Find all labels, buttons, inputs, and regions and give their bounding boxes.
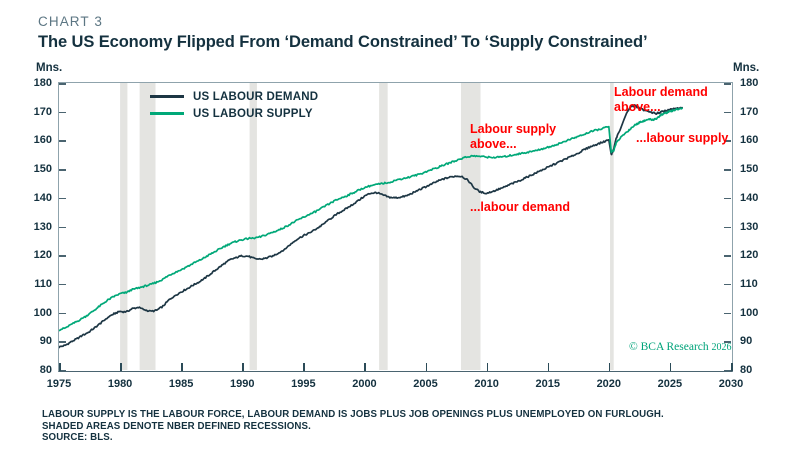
x-tick-label: 2030 <box>709 378 753 390</box>
chart-container: CHART 3 The US Economy Flipped From ‘Dem… <box>0 0 799 452</box>
x-tick-mark <box>487 363 489 371</box>
y-tick-label-right: 80 <box>740 364 770 376</box>
x-tick-mark <box>242 363 244 371</box>
y-tick-mark-right <box>724 313 731 315</box>
legend: US LABOUR DEMAND US LABOUR SUPPLY <box>150 88 318 122</box>
x-tick-mark <box>181 363 183 371</box>
legend-label-demand: US LABOUR DEMAND <box>193 91 318 103</box>
copyright-brand: BCA Research <box>641 341 709 353</box>
legend-label-supply: US LABOUR SUPPLY <box>193 108 313 120</box>
y-axis-unit-left: Mns. <box>36 62 62 74</box>
y-tick-mark-right <box>724 198 731 200</box>
y-tick-mark-left <box>59 313 66 315</box>
annotation-labour-demand-lower: ...labour demand <box>470 200 570 215</box>
x-tick-mark <box>120 363 122 371</box>
chart-number: CHART 3 <box>38 14 103 29</box>
y-tick-mark-right <box>724 169 731 171</box>
x-tick-mark <box>609 363 611 371</box>
x-tick-label: 1985 <box>159 378 203 390</box>
x-tick-label: 2000 <box>342 378 386 390</box>
y-tick-label-left: 120 <box>22 249 52 261</box>
y-tick-label-left: 90 <box>22 335 52 347</box>
x-tick-mark <box>670 363 672 371</box>
y-tick-mark-right <box>724 255 731 257</box>
x-tick-label: 2010 <box>465 378 509 390</box>
x-tick-label: 1990 <box>220 378 264 390</box>
y-tick-mark-right <box>724 112 731 114</box>
y-tick-label-right: 180 <box>740 77 770 89</box>
y-tick-label-left: 80 <box>22 364 52 376</box>
copyright-watermark: © BCA Research 2026 <box>629 341 732 353</box>
y-tick-label-right: 150 <box>740 163 770 175</box>
recession-band <box>610 83 614 370</box>
y-tick-mark-left <box>59 83 66 85</box>
y-tick-label-left: 180 <box>22 77 52 89</box>
copyright-year: 2026 <box>712 342 732 353</box>
page-title: The US Economy Flipped From ‘Demand Cons… <box>38 33 647 52</box>
x-tick-label: 2025 <box>648 378 692 390</box>
y-tick-mark-left <box>59 169 66 171</box>
annotation-labour-supply-lower: ...labour supply <box>636 131 728 146</box>
footnote-line-3: SOURCE: BLS. <box>42 432 664 444</box>
x-tick-mark <box>59 363 61 371</box>
annotation-labour-supply-above: Labour supply above... <box>470 122 556 151</box>
y-tick-mark-left <box>59 284 66 286</box>
x-tick-mark <box>548 363 550 371</box>
y-tick-label-right: 160 <box>740 134 770 146</box>
x-tick-mark <box>364 363 366 371</box>
footnote-line-2: SHADED AREAS DENOTE NBER DEFINED RECESSI… <box>42 421 664 433</box>
footnote-line-1: LABOUR SUPPLY IS THE LABOUR FORCE, LABOU… <box>42 409 664 421</box>
x-tick-label: 2015 <box>526 378 570 390</box>
plot-area <box>58 82 733 372</box>
y-tick-mark-right <box>724 83 731 85</box>
copyright-symbol: © <box>629 341 638 353</box>
y-tick-mark-left <box>59 198 66 200</box>
recession-band <box>379 83 388 370</box>
recession-band <box>120 83 127 370</box>
y-tick-mark-left <box>59 140 66 142</box>
y-tick-label-right: 100 <box>740 307 770 319</box>
footnote: LABOUR SUPPLY IS THE LABOUR FORCE, LABOU… <box>42 409 664 444</box>
x-tick-mark <box>731 363 733 371</box>
y-axis-unit-right: Mns. <box>733 62 759 74</box>
x-tick-label: 1975 <box>37 378 81 390</box>
annotation-labour-demand-above: Labour demand above... <box>614 85 708 114</box>
y-tick-mark-left <box>59 341 66 343</box>
x-tick-label: 1980 <box>98 378 142 390</box>
legend-item-supply: US LABOUR SUPPLY <box>150 105 318 122</box>
y-tick-label-left: 140 <box>22 192 52 204</box>
y-tick-label-right: 90 <box>740 335 770 347</box>
y-tick-mark-left <box>59 227 66 229</box>
x-tick-mark <box>426 363 428 371</box>
y-tick-label-left: 160 <box>22 134 52 146</box>
y-tick-label-left: 130 <box>22 221 52 233</box>
x-tick-label: 2005 <box>404 378 448 390</box>
y-tick-label-right: 120 <box>740 249 770 261</box>
y-tick-mark-right <box>724 370 731 372</box>
y-tick-label-right: 140 <box>740 192 770 204</box>
y-tick-mark-left <box>59 255 66 257</box>
y-tick-mark-left <box>59 112 66 114</box>
plot-svg <box>59 83 731 370</box>
x-tick-label: 1995 <box>281 378 325 390</box>
legend-swatch-supply <box>150 112 184 114</box>
y-tick-label-right: 110 <box>740 278 770 290</box>
y-tick-mark-right <box>724 227 731 229</box>
y-tick-label-left: 110 <box>22 278 52 290</box>
y-tick-mark-right <box>724 284 731 286</box>
recession-band <box>140 83 156 370</box>
y-tick-label-left: 150 <box>22 163 52 175</box>
y-tick-label-right: 170 <box>740 106 770 118</box>
y-tick-label-left: 170 <box>22 106 52 118</box>
recession-band <box>250 83 257 370</box>
y-tick-label-right: 130 <box>740 221 770 233</box>
legend-item-demand: US LABOUR DEMAND <box>150 88 318 105</box>
x-tick-label: 2020 <box>587 378 631 390</box>
x-tick-mark <box>303 363 305 371</box>
y-tick-label-left: 100 <box>22 307 52 319</box>
legend-swatch-demand <box>150 95 184 97</box>
